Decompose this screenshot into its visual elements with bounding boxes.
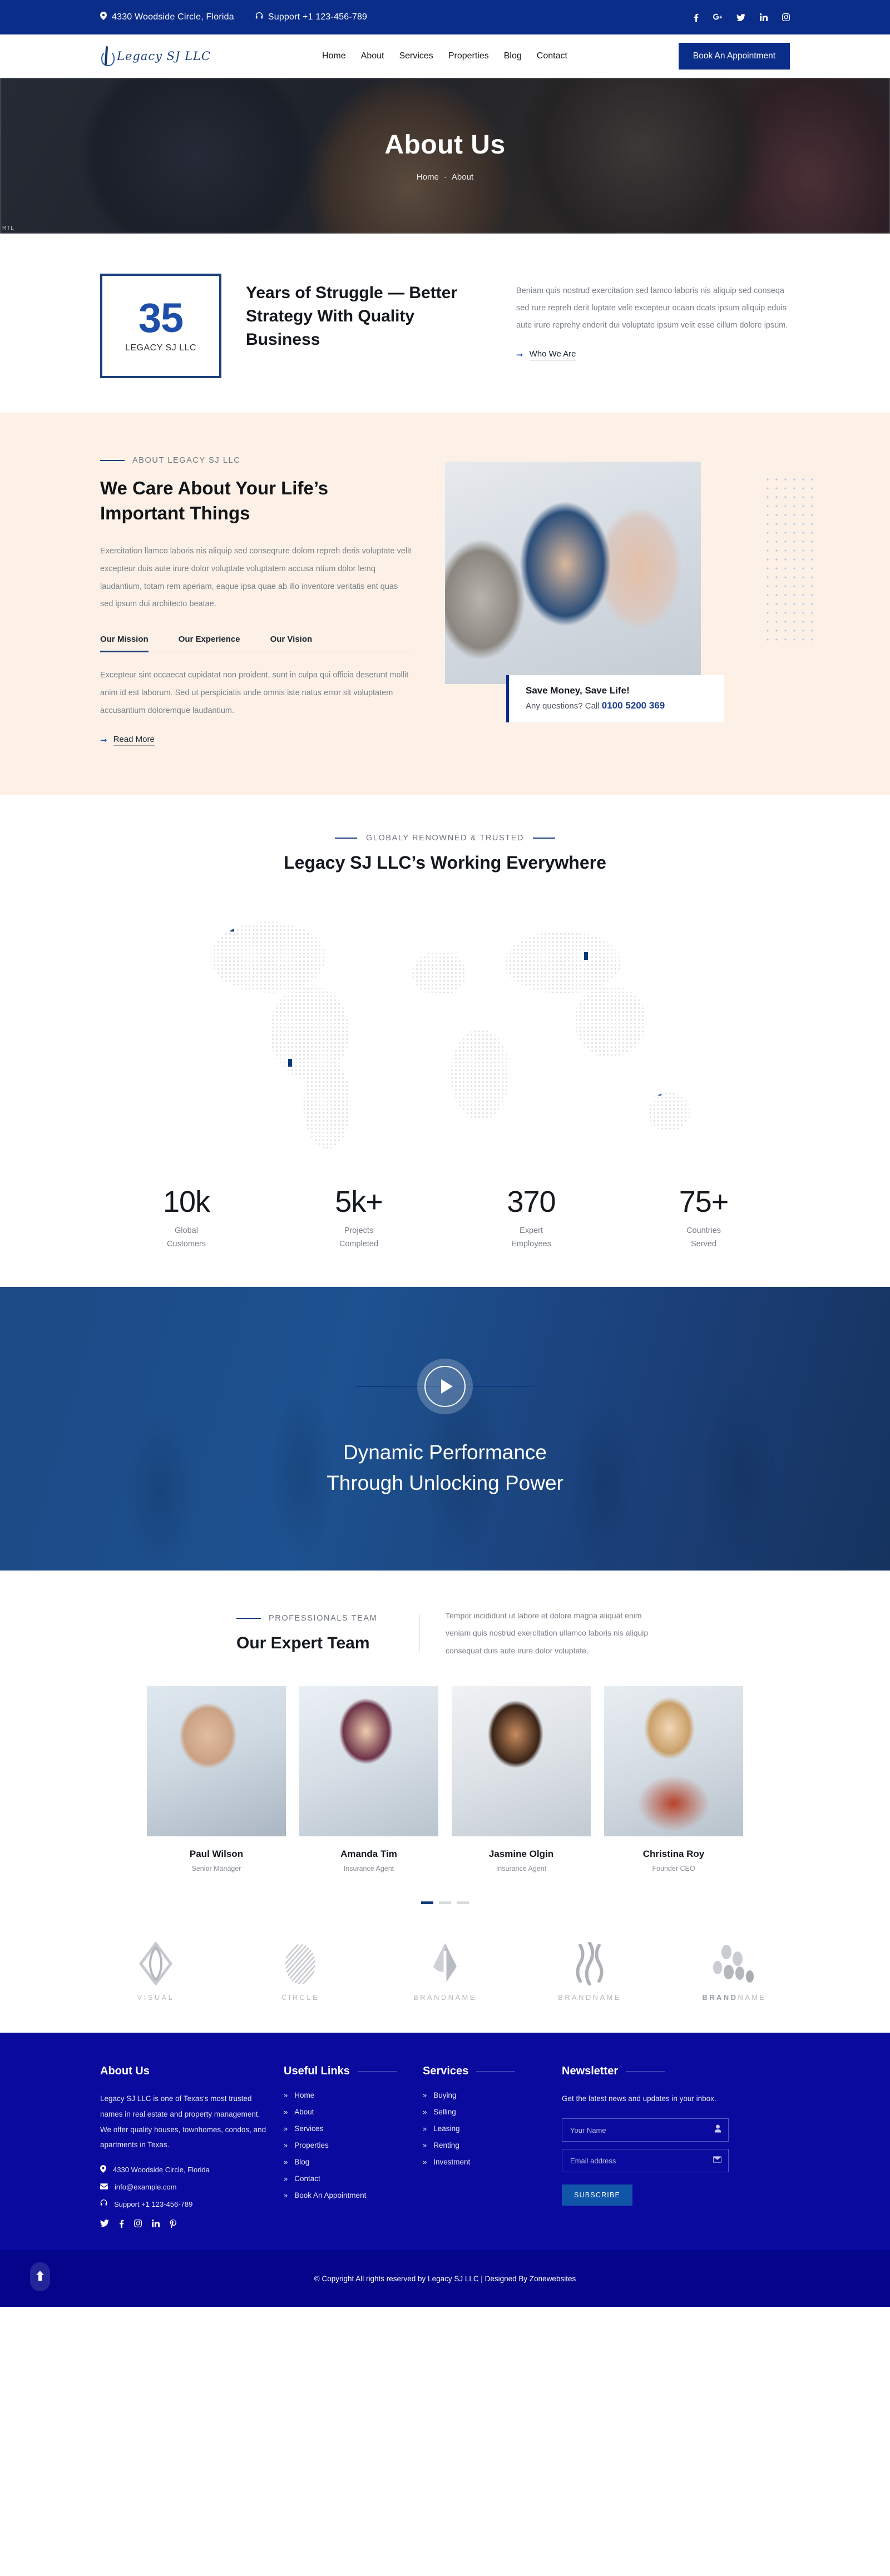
footer-address-text: 4330 Woodside Circle, Florida [113,2166,210,2174]
headset-icon [100,2199,107,2208]
tab-our-mission[interactable]: Our Mission [100,635,149,652]
chevron-double-right-icon: » [423,2108,427,2116]
member-name: Amanda Tim [299,1849,438,1860]
wave-crest-logo-icon [534,1941,645,1985]
stat-expert-employees: 370 Expert Employees [445,1185,617,1251]
member-name: Christina Roy [604,1849,743,1860]
topbar-address: 4330 Woodside Circle, Florida [100,12,234,23]
team-member-card[interactable]: Jasmine Olgin Insurance Agent [452,1686,591,1872]
member-name: Jasmine Olgin [452,1849,591,1860]
map-pin-7 [651,900,655,908]
read-more-link[interactable]: ➞ Read More [100,735,155,746]
chevron-double-right-icon: » [284,2141,288,2149]
years-section: 35 LEGACY SJ LLC Years of Struggle — Bet… [0,234,890,413]
arrow-spire-logo-icon [389,1941,501,1985]
member-photo [147,1686,286,1836]
member-role: Insurance Agent [452,1865,591,1872]
footer-service-investment[interactable]: »Investment [423,2158,545,2166]
about-photo [445,462,701,684]
globe-eyebrow-text: GLOBALY RENOWNED & TRUSTED [366,834,524,843]
newsletter-email-field [562,2149,729,2172]
nav-item-blog[interactable]: Blog [504,51,522,61]
team-member-card[interactable]: Christina Roy Founder CEO [604,1686,743,1872]
eyebrow-rule-right [533,838,555,839]
hatched-circle-logo-icon [245,1941,356,1985]
footer-service-label: Renting [433,2141,459,2149]
carousel-dot-1[interactable] [421,1901,433,1904]
footer-service-selling[interactable]: »Selling [423,2108,545,2116]
linkedin-icon[interactable] [760,13,768,21]
footer-link-label: Contact [294,2174,320,2183]
site-header: Legacy SJ LLC Home About Services Proper… [0,34,890,78]
instagram-icon[interactable] [782,13,790,21]
footer-useful-links-column: Useful Links »Home »About »Services »Pro… [284,2065,423,2228]
map-pin-4 [463,1016,467,1024]
newsletter-email-input[interactable] [562,2149,729,2172]
video-cta-section: Dynamic Performance Through Unlocking Po… [0,1287,890,1571]
page-hero: About Us Home · About RTL [0,78,890,234]
footer-link-book-appointment[interactable]: »Book An Appointment [284,2191,406,2199]
about-eyebrow-text: ABOUT LEGACY SJ LLC [132,456,240,465]
footer-link-properties[interactable]: »Properties [284,2141,406,2149]
eyebrow-rule [236,1618,261,1619]
member-role: Senior Manager [147,1865,286,1872]
years-badge-label: LEGACY SJ LLC [125,343,196,353]
global-reach-section: GLOBALY RENOWNED & TRUSTED Legacy SJ LLC… [0,795,890,1287]
copyright-text: © Copyright All rights reserved by Legac… [314,2275,576,2283]
site-logo[interactable]: Legacy SJ LLC [100,46,211,66]
footer-about-text: Legacy SJ LLC is one of Texas's most tru… [100,2091,267,2153]
topbar-address-text: 4330 Woodside Circle, Florida [112,12,234,22]
years-number: 35 [139,299,183,338]
member-role: Insurance Agent [299,1865,438,1872]
footer-service-label: Investment [433,2158,470,2166]
about-tab-panel-text: Excepteur sint occaecat cupidatat non pr… [100,667,412,720]
location-pin-icon [100,2165,106,2174]
arrow-right-icon: ➞ [100,735,107,745]
footer-service-label: Selling [433,2108,456,2116]
rtl-toggle-badge[interactable]: RTL [2,225,14,231]
chevron-double-right-icon: » [284,2174,288,2183]
chevron-double-right-icon: » [423,2158,427,2166]
who-we-are-link[interactable]: ➞ Who We Are [516,349,576,360]
team-heading: Our Expert Team [236,1634,396,1653]
footer-services-list: »Buying »Selling »Leasing »Renting »Inve… [423,2091,545,2166]
footer-link-blog[interactable]: »Blog [284,2158,406,2166]
newsletter-name-field [562,2118,729,2142]
brand-logo-brandname-3[interactable]: BRANDNAME [679,1941,790,2002]
google-plus-icon[interactable] [713,13,722,21]
chevron-double-right-icon: » [423,2091,427,2099]
footer-support-text: Support +1 123-456-789 [114,2200,192,2208]
footer-link-label: Services [294,2124,323,2133]
map-pin-1 [230,924,234,932]
years-heading: Years of Struggle — Better Strategy With… [246,281,483,351]
team-eyebrow: PROFESSIONALS TEAM [236,1614,396,1623]
call-callout-card: Save Money, Save Life! Any questions? Ca… [506,675,724,722]
newsletter-name-input[interactable] [562,2118,729,2142]
chevron-double-right-icon: » [284,2124,288,2133]
brand-logo-circle[interactable]: CIRCLE [245,1941,356,2002]
brand-name: CIRCLE [245,1993,356,2002]
user-icon [714,2125,721,2136]
footer-link-label: Home [294,2091,314,2099]
callout-phone[interactable]: 0100 5200 369 [602,700,665,711]
breadcrumb-separator: · [444,172,447,182]
scroll-to-top-button[interactable] [30,2262,50,2291]
footer-link-label: Book An Appointment [294,2191,366,2199]
team-section: PROFESSIONALS TEAM Our Expert Team Tempo… [0,1571,890,1921]
map-pin-3 [346,953,350,961]
years-badge: 35 LEGACY SJ LLC [100,274,221,378]
stat-value: 75+ [617,1185,790,1219]
team-carousel-pagination [0,1901,890,1904]
footer-service-label: Buying [433,2091,456,2099]
about-heading: We Care About Your Life’s Important Thin… [100,476,412,526]
stats-row: 10k Global Customers 5k+ Projects Comple… [100,1185,790,1251]
member-photo [604,1686,743,1836]
globe-heading: Legacy SJ LLC’s Working Everywhere [0,853,890,873]
footer-services-title: Services [423,2065,468,2078]
brand-logo-visual[interactable]: VISUAL [100,1941,211,2002]
play-triangle [441,1379,453,1394]
read-more-label: Read More [113,735,155,746]
arrow-up-icon [36,2271,44,2283]
heading-rule [626,2071,665,2072]
chevron-double-right-icon: » [284,2108,288,2116]
brand-logos-section: VISUAL CIRCLE BRANDNAME BRANDNAME BRANDN… [0,1921,890,2033]
chevron-double-right-icon: » [284,2158,288,2166]
footer-address: 4330 Woodside Circle, Florida [100,2165,267,2174]
pinterest-icon[interactable] [170,2220,176,2228]
team-members-list: Paul Wilson Senior Manager Amanda Tim In… [0,1686,890,1872]
logo-text: Legacy SJ LLC [117,49,211,63]
footer-services-column: Services »Buying »Selling »Leasing »Rent… [423,2065,562,2228]
eyebrow-rule [100,460,125,461]
top-bar: 4330 Woodside Circle, Florida Support +1… [0,0,890,34]
about-eyebrow: ABOUT LEGACY SJ LLC [100,456,412,465]
member-photo [299,1686,438,1836]
stat-value: 370 [445,1185,617,1219]
video-heading: Dynamic Performance Through Unlocking Po… [327,1438,563,1499]
copyright-bar: © Copyright All rights reserved by Legac… [0,2250,890,2307]
callout-text: Any questions? Call 0100 5200 369 [526,700,711,711]
envelope-icon [713,2156,721,2166]
team-member-card[interactable]: Amanda Tim Insurance Agent [299,1686,438,1872]
about-lead-text: Exercitation llamco laboris nis aliquip … [100,543,412,614]
footer-about-title: About Us [100,2065,150,2078]
topbar-social-links [694,13,790,22]
footer-service-label: Leasing [433,2124,459,2133]
nav-item-about[interactable]: About [361,51,384,61]
globe-eyebrow: GLOBALY RENOWNED & TRUSTED [0,834,890,843]
tab-our-experience[interactable]: Our Experience [179,635,240,652]
arrow-right-icon: ➞ [516,350,523,360]
footer-link-home[interactable]: »Home [284,2091,406,2099]
footer-link-label: Blog [294,2158,309,2166]
about-tabs: Our Mission Our Experience Our Vision [100,635,412,652]
stat-value: 5k+ [273,1185,445,1219]
footer-email[interactable]: info@example.com [100,2183,267,2191]
member-photo [452,1686,591,1836]
footer-link-about[interactable]: »About [284,2108,406,2116]
facebook-icon[interactable] [694,13,699,22]
chevron-double-right-icon: » [423,2124,427,2133]
main-nav: Home About Services Properties Blog Cont… [322,51,567,61]
brand-logo-brandname-1[interactable]: BRANDNAME [389,1941,501,2002]
brand-name: BRANDNAME [679,1993,790,2002]
twitter-icon[interactable] [100,2220,109,2228]
footer-link-label: About [294,2108,314,2116]
nav-item-properties[interactable]: Properties [448,51,489,61]
brand-name-rest: NAME [738,1993,766,2002]
footer-service-leasing[interactable]: »Leasing [423,2124,545,2133]
newsletter-subscribe-button[interactable]: SUBSCRIBE [562,2184,632,2206]
footer-about-column: About Us Legacy SJ LLC is one of Texas's… [100,2065,284,2228]
footer-service-renting[interactable]: »Renting [423,2141,545,2149]
footer-useful-title: Useful Links [284,2065,350,2078]
envelope-icon [100,2183,108,2191]
stat-projects-completed: 5k+ Projects Completed [273,1185,445,1251]
chevron-double-right-icon: » [284,2091,288,2099]
footer-link-services[interactable]: »Services [284,2124,406,2133]
diamond-outline-logo-icon [100,1941,211,1985]
footer-link-contact[interactable]: »Contact [284,2174,406,2183]
callout-prefix: Any questions? Call [526,701,602,711]
chevron-double-right-icon: » [423,2141,427,2149]
about-section: ABOUT LEGACY SJ LLC We Care About Your L… [0,413,890,795]
footer-newsletter-title: Newsletter [562,2065,618,2078]
footer-useful-list: »Home »About »Services »Properties »Blog… [284,2091,406,2199]
member-name: Paul Wilson [147,1849,286,1860]
stat-label: Global Customers [100,1225,273,1251]
callout-title: Save Money, Save Life! [526,685,711,696]
brand-name: VISUAL [100,1993,211,2002]
world-dot-map [150,893,740,1160]
stat-label: Projects Completed [273,1225,445,1251]
map-pin-5 [504,906,508,914]
video-heading-line2: Through Unlocking Power [327,1472,563,1494]
footer-service-buying[interactable]: »Buying [423,2091,545,2099]
video-heading-line1: Dynamic Performance [343,1441,547,1464]
video-background [0,1287,890,1571]
nav-item-contact[interactable]: Contact [537,51,567,61]
site-footer: About Us Legacy SJ LLC is one of Texas's… [0,2033,890,2250]
nav-item-services[interactable]: Services [399,51,433,61]
book-appointment-button[interactable]: Book An Appointment [679,43,790,70]
twitter-icon[interactable] [736,14,745,21]
linkedin-icon[interactable] [152,2220,160,2228]
carousel-dot-2[interactable] [439,1901,451,1904]
carousel-dot-3[interactable] [457,1901,469,1904]
map-pin-8 [657,1088,661,1096]
stat-value: 10k [100,1185,273,1219]
dots-cascade-logo-icon [679,1941,790,1985]
topbar-support-text: Support +1 123-456-789 [268,12,367,22]
instagram-icon[interactable] [134,2220,142,2228]
team-eyebrow-text: PROFESSIONALS TEAM [269,1614,377,1623]
member-role: Founder CEO [604,1865,743,1872]
location-pin-icon [100,12,107,23]
newsletter-description: Get the latest news and updates in your … [562,2091,729,2106]
brand-name: BRANDNAME [389,1993,501,2002]
footer-link-label: Properties [294,2141,329,2149]
heading-rule [476,2071,515,2072]
play-ring [424,1366,466,1407]
chevron-double-right-icon: » [284,2191,288,2199]
breadcrumb: Home · About [417,172,473,182]
nav-item-home[interactable]: Home [322,51,346,61]
footer-newsletter-column: Newsletter Get the latest news and updat… [562,2065,745,2228]
footer-social-links [100,2220,267,2228]
tab-our-vision[interactable]: Our Vision [270,635,313,652]
footer-support[interactable]: Support +1 123-456-789 [100,2199,267,2208]
play-button-icon[interactable] [417,1359,473,1414]
brand-name: BRANDNAME [534,1993,645,2002]
feather-logo-icon [100,46,115,66]
years-body-text: Beniam quis nostrud exercitation sed lam… [516,283,790,335]
topbar-support[interactable]: Support +1 123-456-789 [255,12,367,23]
who-we-are-label: Who We Are [530,349,576,360]
brand-logo-brandname-2[interactable]: BRANDNAME [534,1941,645,2002]
breadcrumb-home[interactable]: Home [417,172,439,182]
page-title: About Us [384,130,505,160]
breadcrumb-current: About [452,172,473,182]
facebook-icon[interactable] [119,2220,124,2228]
headset-icon [255,12,263,23]
footer-email-text: info@example.com [115,2183,176,2191]
map-pin-6 [584,952,588,960]
eyebrow-rule-left [335,838,357,839]
stat-label: Countries Served [617,1225,790,1251]
map-pin-2 [288,1059,292,1067]
stat-label: Expert Employees [445,1225,617,1251]
stat-global-customers: 10k Global Customers [100,1185,273,1251]
stat-countries-served: 75+ Countries Served [617,1185,790,1251]
team-member-card[interactable]: Paul Wilson Senior Manager [147,1686,286,1872]
team-description: Tempor incididunt ut labore et dolore ma… [420,1607,654,1660]
dot-pattern-decoration [763,475,817,642]
heading-rule [358,2071,397,2072]
brand-name-prefix: BRAND [702,1993,738,2002]
